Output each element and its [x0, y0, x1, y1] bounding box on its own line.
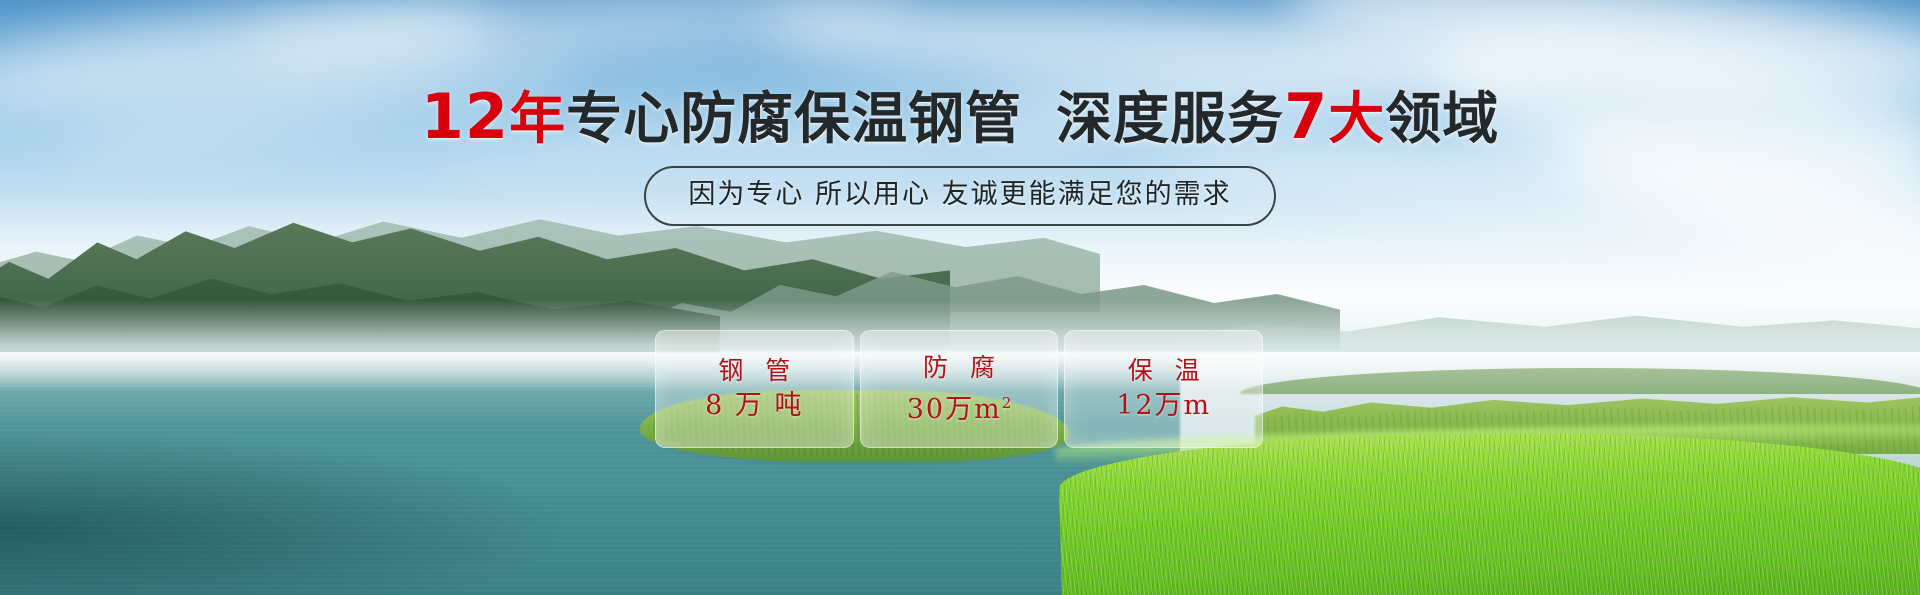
stat-value-text: 8 万 吨: [705, 390, 803, 421]
subtitle-container: 因为专心 所以用心 友诚更能满足您的需求: [0, 166, 1920, 226]
headline-years-unit: 年: [509, 87, 566, 152]
headline-highlight-number: 7: [1284, 80, 1328, 153]
stats-card-group: 钢 管 8 万 吨 防 腐 30万m2 保 温 12万m: [655, 330, 1263, 448]
headline-phrase-two: 深度服务: [1056, 87, 1284, 152]
stat-value: 12万m: [1116, 391, 1211, 421]
stat-card-anticorrosion[interactable]: 防 腐 30万m2: [860, 330, 1059, 448]
headline-years-number: 12: [421, 80, 509, 153]
stat-card-insulation[interactable]: 保 温 12万m: [1064, 330, 1263, 448]
headline-phrase-three: 领域: [1385, 87, 1499, 152]
stat-label: 钢 管: [711, 357, 797, 385]
stat-value: 8 万 吨: [705, 391, 803, 421]
headline-phrase-one: 专心防腐保温钢管: [566, 87, 1022, 152]
stat-value-text: 30万m: [907, 394, 1002, 425]
hero-banner: 12年专心防腐保温钢管深度服务7大领域 因为专心 所以用心 友诚更能满足您的需求…: [0, 0, 1920, 595]
subtitle-pill: 因为专心 所以用心 友诚更能满足您的需求: [644, 166, 1275, 226]
stat-label: 保 温: [1121, 357, 1207, 385]
headline: 12年专心防腐保温钢管深度服务7大领域: [0, 86, 1920, 151]
headline-highlight-unit: 大: [1328, 87, 1385, 152]
banner-content: 12年专心防腐保温钢管深度服务7大领域 因为专心 所以用心 友诚更能满足您的需求…: [0, 0, 1920, 595]
stat-label: 防 腐: [916, 354, 1002, 382]
stat-value-text: 12万m: [1116, 390, 1211, 421]
stat-value-superscript: 2: [1002, 394, 1012, 412]
stat-card-steel-pipe[interactable]: 钢 管 8 万 吨: [655, 330, 854, 448]
stat-value: 30万m2: [907, 388, 1012, 425]
